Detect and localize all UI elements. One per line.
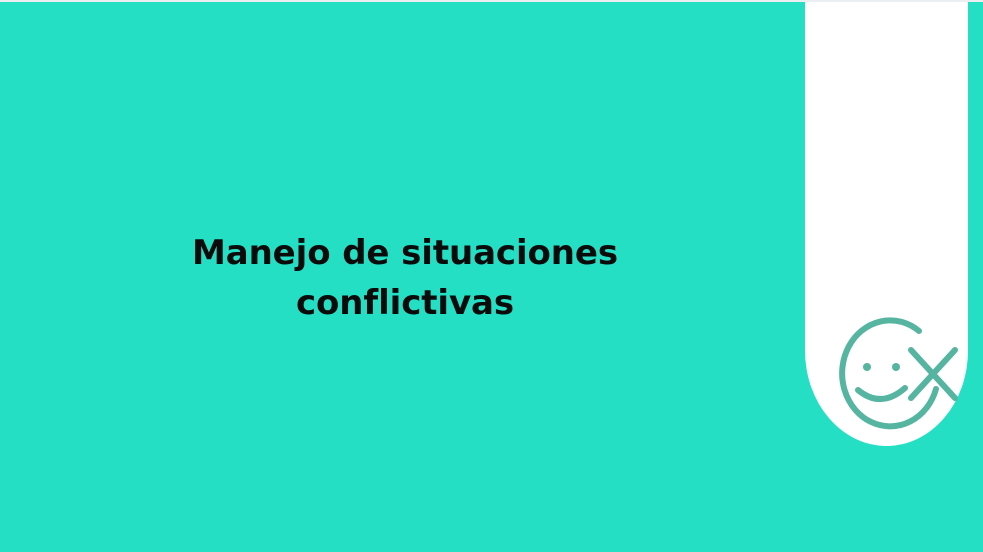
smile-arc-icon — [858, 388, 905, 399]
smiley-x-logo — [818, 310, 970, 434]
left-eye-icon — [863, 363, 871, 371]
top-hairline-divider — [0, 0, 983, 2]
page-title: Manejo de situaciones conflictivas — [0, 228, 810, 328]
right-eye-icon — [892, 363, 900, 371]
face-arc-icon — [842, 320, 936, 426]
page-title-line-2: conflictivas — [0, 278, 810, 328]
slide-canvas: Manejo de situaciones conflictivas — [0, 0, 983, 552]
page-title-line-1: Manejo de situaciones — [0, 228, 810, 278]
